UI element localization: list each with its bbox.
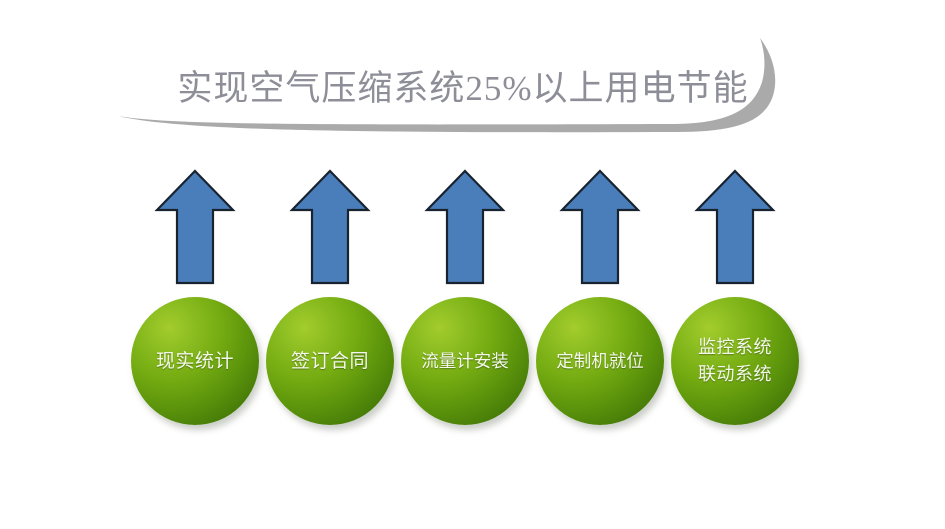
arrow-up-icon xyxy=(289,168,371,286)
slide-canvas: 实现空气压缩系统25%以上用电节能 现实统计 签订合同 流量计安装 xyxy=(0,0,945,529)
title-banner: 实现空气压缩系统25%以上用电节能 xyxy=(110,28,810,158)
process-node-5[interactable]: 监控系统 联动系统 xyxy=(671,297,799,425)
process-node-2-label: 签订合同 xyxy=(287,349,373,374)
process-node-3[interactable]: 流量计安装 xyxy=(401,297,529,425)
process-node-5-label-line1: 监控系统 xyxy=(698,337,772,357)
process-node-1[interactable]: 现实统计 xyxy=(131,297,259,425)
arrow-up-icon xyxy=(559,168,641,286)
process-node-2[interactable]: 签订合同 xyxy=(266,297,394,425)
arrow-up-icon xyxy=(424,168,506,286)
arrow-up-icon xyxy=(154,168,236,286)
process-node-5-label: 监控系统 联动系统 xyxy=(694,334,776,388)
process-node-1-label: 现实统计 xyxy=(152,349,238,374)
process-node-3-label: 流量计安装 xyxy=(417,349,513,374)
process-node-4-label: 定制机就位 xyxy=(552,349,648,374)
process-node-5-label-line2: 联动系统 xyxy=(698,364,772,384)
process-node-4[interactable]: 定制机就位 xyxy=(536,297,664,425)
arrow-up-icon xyxy=(694,168,776,286)
page-title: 实现空气压缩系统25%以上用电节能 xyxy=(148,66,778,112)
